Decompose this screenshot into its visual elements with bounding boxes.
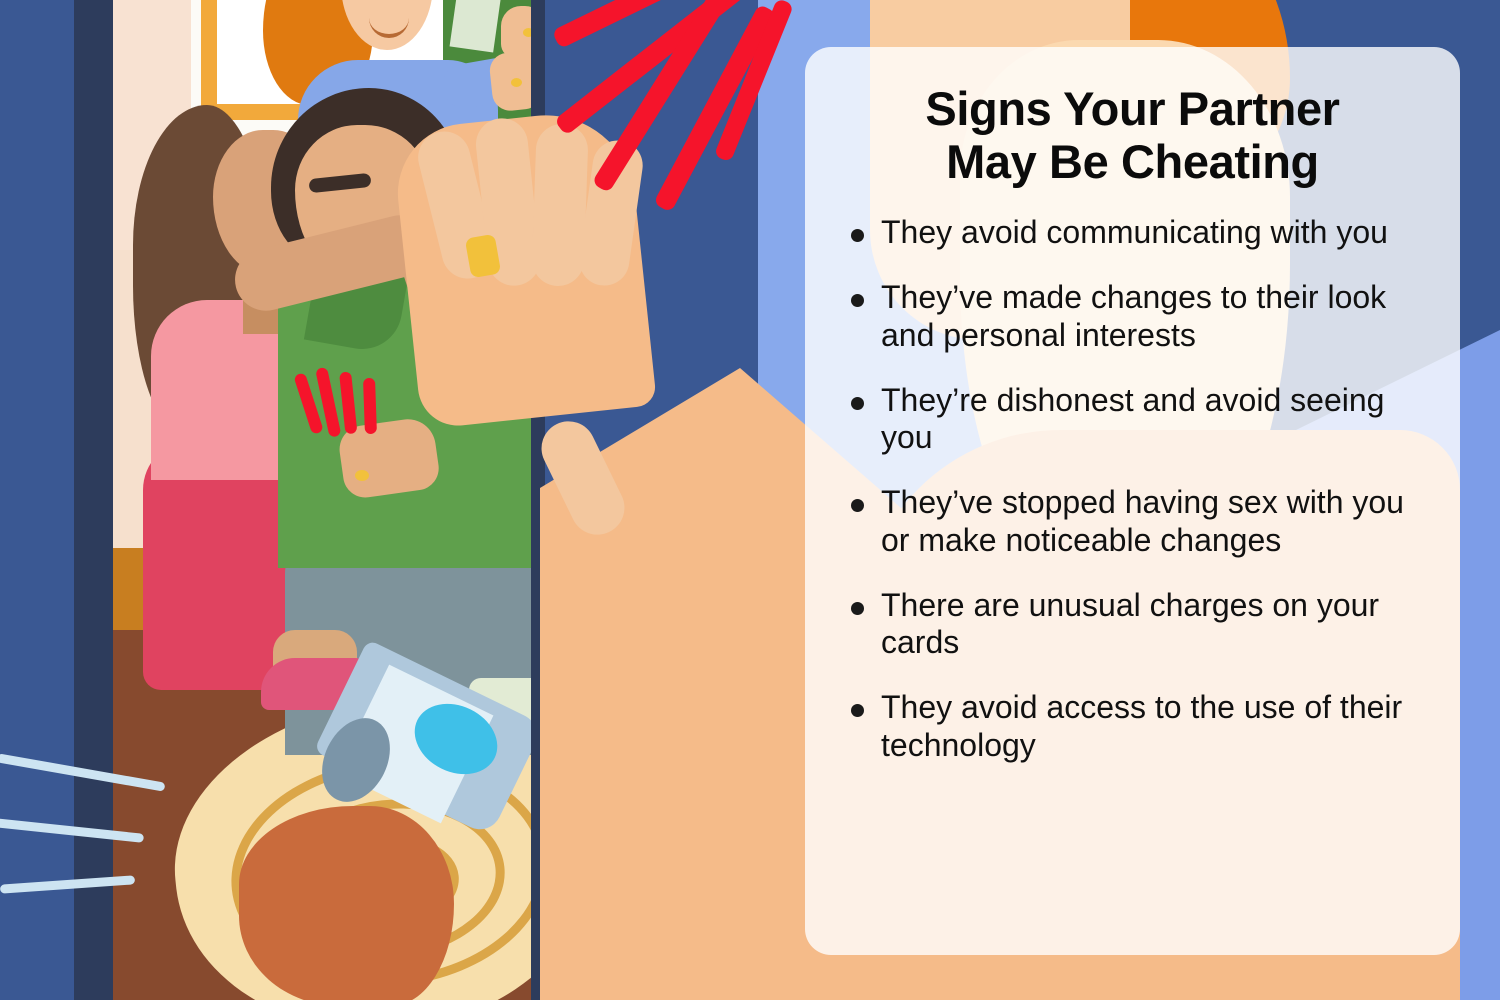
list-item: They’re dishonest and avoid seeing you — [847, 382, 1426, 458]
page-title: Signs Your Partner May Be Cheating — [839, 83, 1426, 188]
list-item: They’ve made changes to their look and p… — [847, 279, 1426, 355]
page-title-line-1: Signs Your Partner — [925, 82, 1339, 135]
signs-list: They avoid communicating with you They’v… — [847, 214, 1426, 764]
anger-mark-small-4 — [363, 378, 377, 434]
man-ring-icon — [355, 470, 369, 481]
frame-ring-lower-icon — [511, 78, 522, 87]
list-item: They’ve stopped having sex with you or m… — [847, 484, 1426, 560]
list-item: They avoid access to the use of their te… — [847, 689, 1426, 765]
navy-stripe — [74, 0, 113, 1000]
infographic-canvas: Signs Your Partner May Be Cheating They … — [0, 0, 1500, 1000]
list-item: They avoid communicating with you — [847, 214, 1426, 252]
page-title-line-2: May Be Cheating — [946, 135, 1319, 188]
coffee-spill — [239, 806, 454, 1000]
text-card: Signs Your Partner May Be Cheating They … — [805, 47, 1460, 955]
list-item: There are unusual charges on your cards — [847, 587, 1426, 663]
